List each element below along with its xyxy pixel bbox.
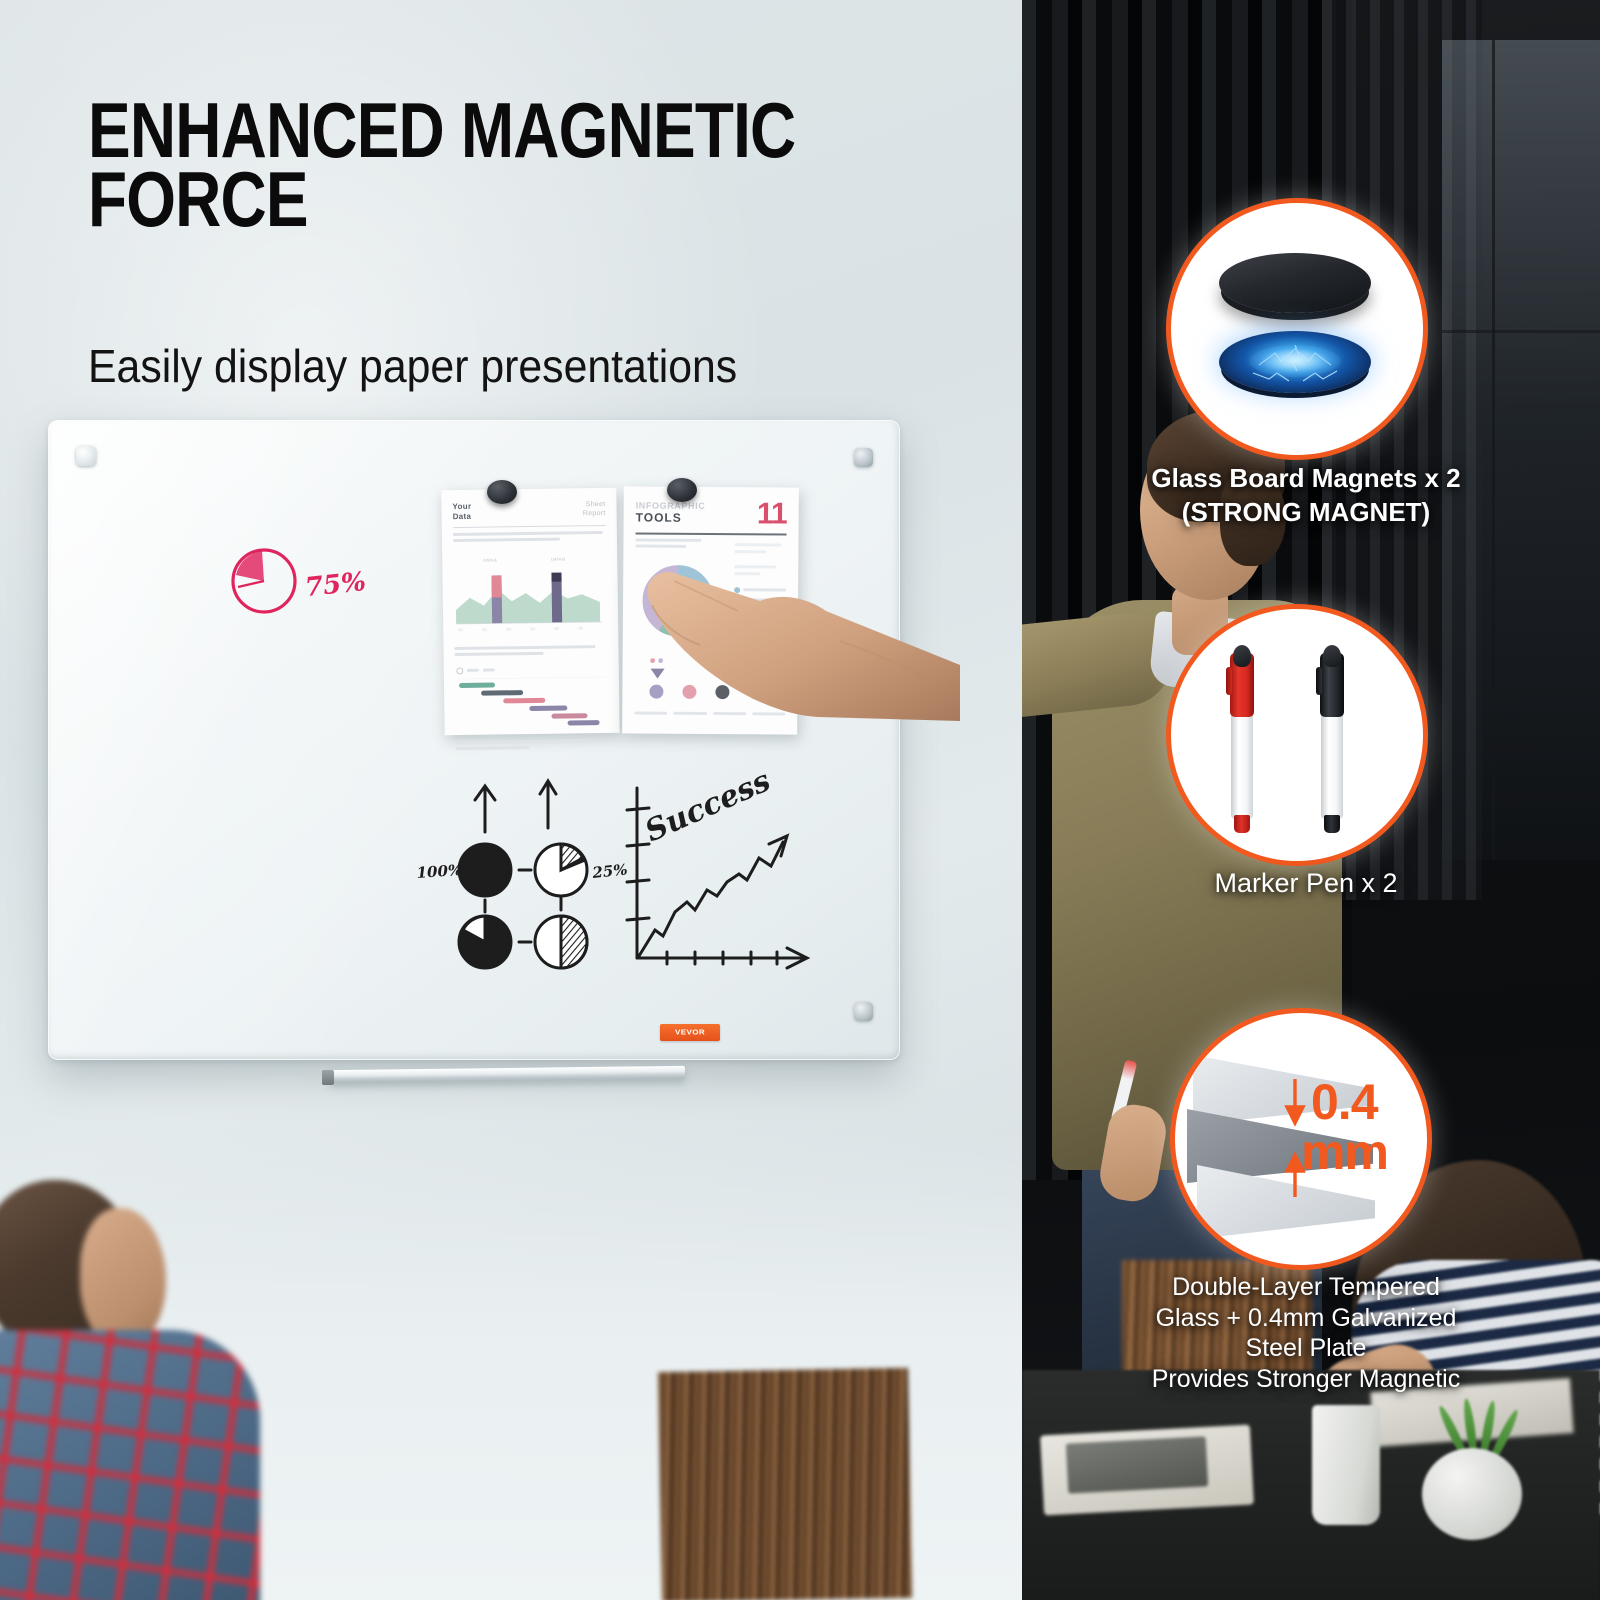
marker-pen-red-icon [1229,645,1255,825]
presenter-hand [630,545,970,745]
whiteboard-doodle: 100% 25% 75% 50% Success [405,770,825,970]
window-mullion-horizontal [1442,330,1600,333]
magnet-energy-glow [1249,345,1341,377]
svg-text:Q2: Q2 [482,628,487,632]
mounting-screw-top-left [76,446,96,466]
subheadline: Easily display paper presentations [88,342,925,390]
product-marketing-image: VEVOR 75% Your Data Sheet Report [0,0,1600,1600]
feature-caption-magnets: Glass Board Magnets x 2 (STRONG MAGNET) [1026,462,1586,530]
svg-text:Q4: Q4 [530,627,535,631]
caption-thickness-line3: Steel Plate [1026,1333,1586,1364]
posted-paper-left: Your Data Sheet Report DATA A DATA B [441,488,619,735]
caption-magnets-line2: (STRONG MAGNET) [1026,496,1586,530]
magnet-on-paper-left [487,480,517,504]
foreground-attendee-plaid [0,1180,290,1600]
paper-left-rule [453,525,606,528]
svg-text:100%: 100% [416,861,463,882]
paper-left-title: Your Data [452,502,471,522]
magnet-on-paper-right [667,478,697,502]
wooden-chair-back [658,1368,912,1600]
office-wall-scene: VEVOR 75% Your Data Sheet Report [0,0,1022,1600]
magnet-disc-top-icon [1219,253,1371,313]
caption-thickness-line1: Double-Layer Tempered [1026,1272,1586,1303]
mounting-screw-bottom-right [854,1002,873,1021]
paper-left-area-chart: DATA A DATA B Q1Q2Q3 Q4Q5Q6 [453,552,607,636]
svg-text:Q1: Q1 [458,628,463,632]
brand-sticker-label: VEVOR [675,1028,705,1036]
caption-thickness-line2: Glass + 0.4mm Galvanized [1026,1303,1586,1334]
marker-tray-end-cap [322,1070,334,1085]
svg-text:DATA A: DATA A [483,557,497,562]
feature-caption-thickness: Double-Layer Tempered Glass + 0.4mm Galv… [1026,1272,1586,1394]
caption-magnets-line1: Glass Board Magnets x 2 [1026,462,1586,496]
svg-text:25%: 25% [591,860,629,882]
feature-callout-magnets [1166,198,1428,460]
feature-callout-thickness: 0.4 mm [1170,1008,1432,1270]
svg-text:DATA B: DATA B [551,557,565,562]
red-pie-doodle-icon [228,545,300,617]
table-notebook-screen [1066,1436,1208,1493]
feature-caption-markers: Marker Pen x 2 [1026,866,1586,901]
paper-right-number: 11 [757,501,787,527]
mounting-screw-top-right [854,448,873,467]
headline: ENHANCED MAGNETIC FORCE [88,96,810,233]
window-light [1442,40,1600,860]
svg-text:Success: Success [640,770,776,849]
caption-thickness-line4: Provides Stronger Magnetic [1026,1364,1586,1395]
svg-text:Q5: Q5 [554,627,559,631]
red-percent-annotation: 75% [304,567,368,603]
svg-text:Q6: Q6 [578,626,583,630]
feature-callout-markers [1166,604,1428,866]
table-plant-pot [1422,1448,1522,1540]
window-mullion-vertical [1492,40,1495,860]
thickness-unit: mm [1301,1129,1388,1177]
table-cup [1312,1405,1380,1525]
thickness-value: 0.4 [1311,1079,1378,1127]
paper-right-title: INFOGRAPHIC TOOLS [636,500,706,524]
svg-text:Q3: Q3 [506,627,511,631]
paper-left-gantt-chart [455,665,609,729]
paper-left-subtitle: Sheet Report [583,500,606,519]
brand-sticker: VEVOR [660,1024,720,1041]
marker-pen-black-icon [1319,645,1345,825]
